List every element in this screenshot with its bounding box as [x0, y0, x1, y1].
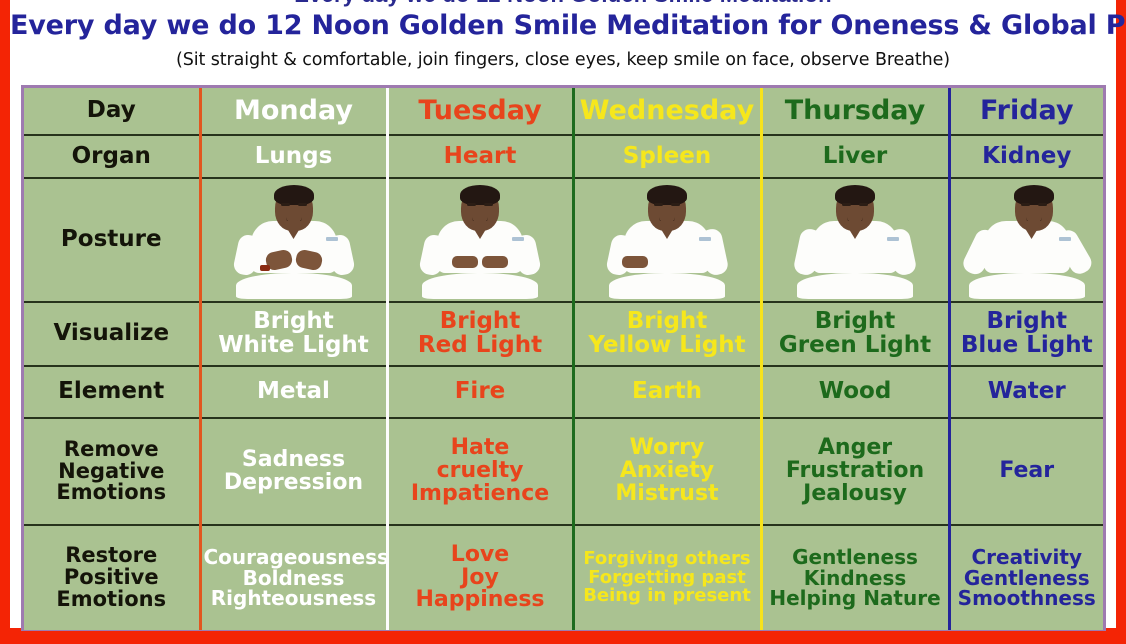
- cell-remove-negative-tuesday: HatecrueltyImpatience: [387, 418, 573, 525]
- cell-visualize-wednesday: BrightYellow Light: [573, 302, 761, 366]
- cell-restore-positive-tuesday: LoveJoyHappiness: [387, 525, 573, 630]
- cell-visualize-friday: BrightBlue Light: [949, 302, 1103, 366]
- cell-element-tuesday: Fire: [387, 366, 573, 418]
- cell-remove-negative-wednesday: WorryAnxietyMistrust: [573, 418, 761, 525]
- cell-posture-wednesday: [573, 178, 761, 302]
- table-row-element: Element Metal Fire Earth Wood Water: [24, 366, 1103, 418]
- cell-visualize-monday: BrightWhite Light: [200, 302, 387, 366]
- table-row-remove-negative: RemoveNegativeEmotions SadnessDepression…: [24, 418, 1103, 525]
- cell-restore-positive-monday: CourageousnessBoldnessRighteousness: [200, 525, 387, 630]
- table-row-day: Day Monday Tuesday Wednesday Thursday Fr…: [24, 88, 1103, 135]
- cell-organ-monday: Lungs: [200, 135, 387, 178]
- meditation-figure-icon: [765, 181, 946, 299]
- row-label-restore-positive: RestorePositiveEmotions: [24, 525, 200, 630]
- meditation-figure-icon: [577, 181, 758, 299]
- cell-day-thursday: Thursday: [761, 88, 949, 135]
- cell-organ-thursday: Liver: [761, 135, 949, 178]
- poster-root: { "header": { "ghost_line": "Every day w…: [0, 0, 1126, 644]
- cell-element-thursday: Wood: [761, 366, 949, 418]
- row-label-organ: Organ: [24, 135, 200, 178]
- cell-organ-wednesday: Spleen: [573, 135, 761, 178]
- cell-organ-tuesday: Heart: [387, 135, 573, 178]
- table-row-restore-positive: RestorePositiveEmotions CourageousnessBo…: [24, 525, 1103, 630]
- poster-sheet: Every day we do 12 Noon Golden Smile Med…: [10, 0, 1116, 628]
- meditation-figure-icon: [391, 181, 570, 299]
- cell-visualize-tuesday: BrightRed Light: [387, 302, 573, 366]
- meditation-figure-icon: [953, 181, 1102, 299]
- meditation-table: Day Monday Tuesday Wednesday Thursday Fr…: [24, 88, 1103, 630]
- row-label-day: Day: [24, 88, 200, 135]
- meditation-figure-icon: [204, 181, 384, 299]
- cell-remove-negative-monday: SadnessDepression: [200, 418, 387, 525]
- cell-remove-negative-thursday: AngerFrustrationJealousy: [761, 418, 949, 525]
- cell-posture-tuesday: [387, 178, 573, 302]
- cell-element-wednesday: Earth: [573, 366, 761, 418]
- meditation-table-frame: Day Monday Tuesday Wednesday Thursday Fr…: [21, 85, 1106, 631]
- row-label-remove-negative: RemoveNegativeEmotions: [24, 418, 200, 525]
- cell-restore-positive-wednesday: Forgiving othersForgetting pastBeing in …: [573, 525, 761, 630]
- cell-posture-monday: [200, 178, 387, 302]
- page-subtitle: (Sit straight & comfortable, join finger…: [10, 50, 1116, 70]
- cell-day-wednesday: Wednesday: [573, 88, 761, 135]
- cell-visualize-thursday: BrightGreen Light: [761, 302, 949, 366]
- cell-element-friday: Water: [949, 366, 1103, 418]
- cell-day-monday: Monday: [200, 88, 387, 135]
- table-row-visualize: Visualize BrightWhite Light BrightRed Li…: [24, 302, 1103, 366]
- row-label-element: Element: [24, 366, 200, 418]
- page-title: Every day we do 12 Noon Golden Smile Med…: [10, 10, 1116, 41]
- cell-restore-positive-friday: CreativityGentlenessSmoothness: [949, 525, 1103, 630]
- table-row-organ: Organ Lungs Heart Spleen Liver Kidney: [24, 135, 1103, 178]
- cell-posture-thursday: [761, 178, 949, 302]
- cell-remove-negative-friday: Fear: [949, 418, 1103, 525]
- row-label-posture: Posture: [24, 178, 200, 302]
- cell-day-friday: Friday: [949, 88, 1103, 135]
- cell-element-monday: Metal: [200, 366, 387, 418]
- table-row-posture: Posture: [24, 178, 1103, 302]
- cell-posture-friday: [949, 178, 1103, 302]
- cell-restore-positive-thursday: GentlenessKindnessHelping Nature: [761, 525, 949, 630]
- cell-organ-friday: Kidney: [949, 135, 1103, 178]
- row-label-visualize: Visualize: [24, 302, 200, 366]
- ghost-title-text: Every day we do 12 Noon Golden Smile Med…: [10, 0, 1116, 8]
- cell-day-tuesday: Tuesday: [387, 88, 573, 135]
